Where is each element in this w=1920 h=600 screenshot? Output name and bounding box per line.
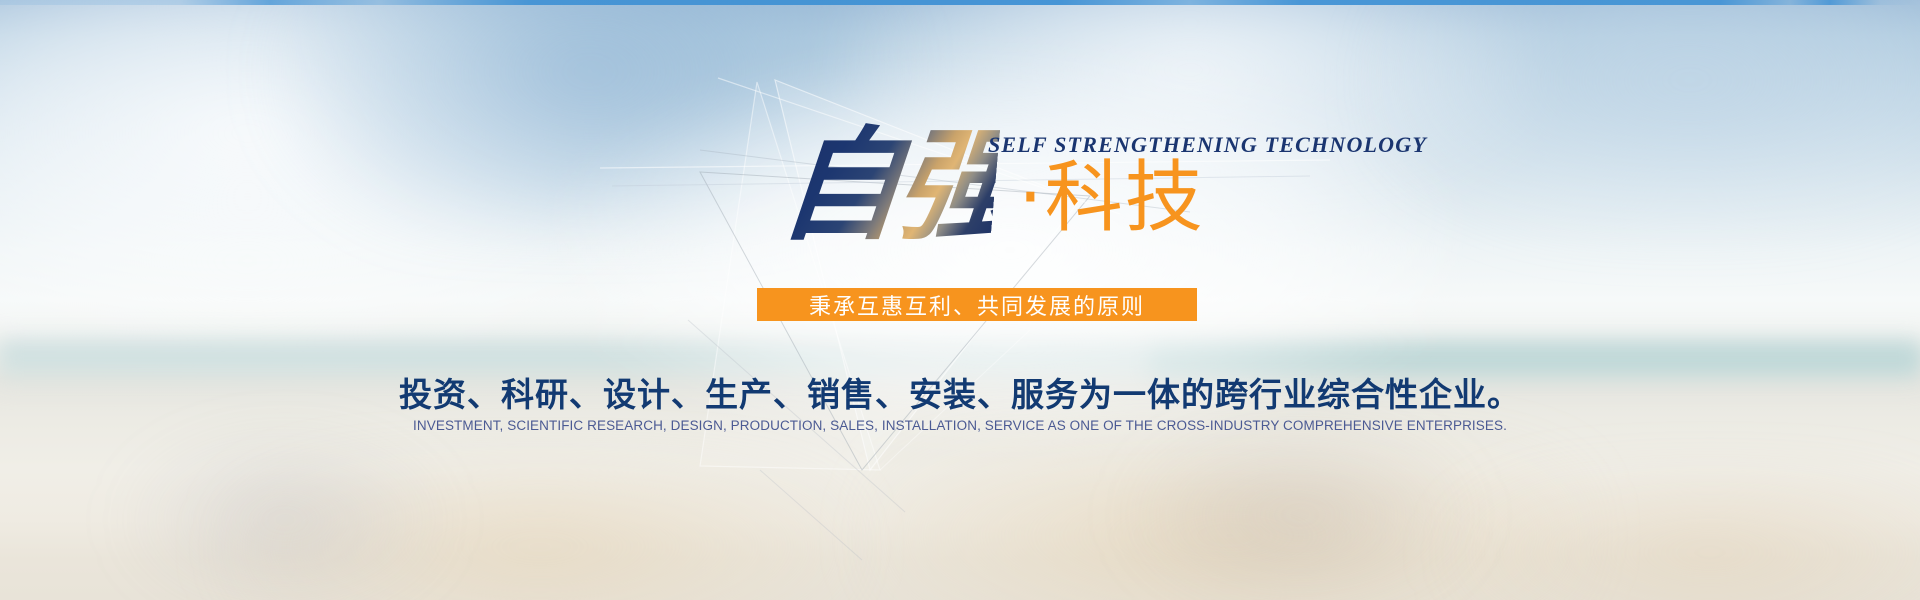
background-shadow-right	[1120, 420, 1480, 600]
calligraphy-wrap: 自强	[780, 118, 995, 268]
headline-chinese: 投资、科研、设计、生产、销售、安装、服务为一体的跨行业综合性企业。	[0, 368, 1920, 416]
logo-lockup: 自强 SELF STRENGTHENING TECHNOLOGY ·科技	[780, 96, 1340, 276]
calligraphy-ziqiang: 自强	[774, 118, 1001, 258]
background-shadow-left	[120, 430, 450, 600]
brand-keji-orange: ·科技	[1018, 158, 1205, 238]
principle-badge-text: 秉承互惠互利、共同发展的原则	[809, 289, 1145, 321]
hero-banner: 自强 SELF STRENGTHENING TECHNOLOGY ·科技 秉承互…	[0, 0, 1920, 600]
background-sand-right	[1450, 480, 1920, 600]
principle-badge: 秉承互惠互利、共同发展的原则	[757, 288, 1197, 321]
top-blue-rule	[0, 0, 1920, 5]
background-cloud-right	[1380, 0, 1920, 230]
headline-english: INVESTMENT, SCIENTIFIC RESEARCH, DESIGN,…	[0, 418, 1920, 433]
